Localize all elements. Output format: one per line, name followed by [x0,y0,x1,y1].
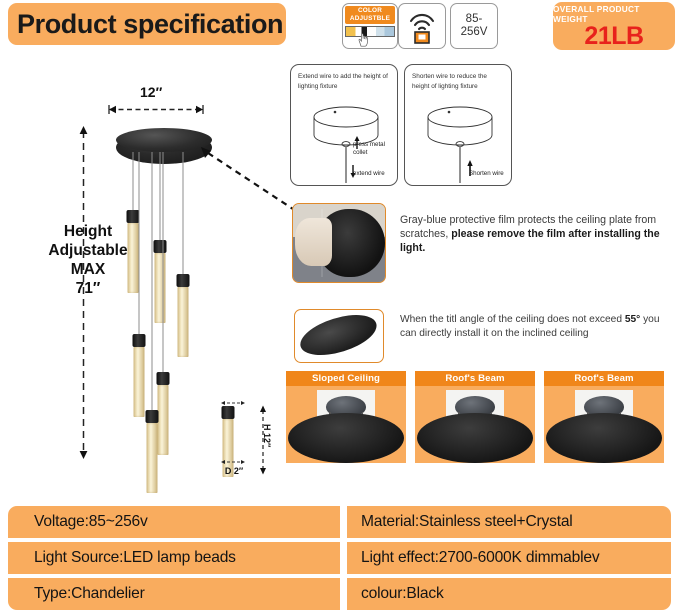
table-row: Light Source:LED lamp beads Light effect… [8,542,671,574]
photo-hand [295,218,332,266]
ceiling-panel-body-1 [286,386,406,463]
spec-type: Type:Chandelier [8,578,340,610]
wifi-remote-icon [399,4,445,48]
instruction-card-extend-wire: Extend wire to add the height of lightin… [290,64,398,186]
width-dimension-label: 12″ [140,84,162,100]
color-adjustable-line2: ADJUSTBLE [350,15,390,22]
spec-light-effect: Light effect:2700-6000K dimmablev [347,542,671,574]
tilt-plate-shape [296,309,382,363]
panel-disc-2 [417,413,532,463]
width-dimension-arrow [108,105,204,114]
ceiling-panel-body-3 [544,386,664,463]
extend-callout-extend-wire: extend wire [353,170,385,178]
instruction-card-shorten-wire: Shorten wire to reduce the height of lig… [404,64,512,186]
detail-diameter-bottom-arrow [220,459,246,465]
extend-wire-text: Extend wire to add the height of lightin… [298,72,392,91]
page-title-banner: Product specification [8,3,286,45]
detail-diameter-top-arrow [220,400,246,406]
height-label-line2: Adjustable [48,242,127,259]
voltage-line2: 256V [461,26,488,38]
spec-colour: colour:Black [347,578,671,610]
specification-table: Voltage:85~256v Material:Stainless steel… [8,506,671,614]
ceiling-panel-title-3: Roof's Beam [544,371,664,386]
detail-height-text: H 12″ [262,424,272,447]
panel-disc-1 [288,413,403,463]
tilt-angle-text: When the titl angle of the ceiling does … [400,313,668,341]
table-row: Voltage:85~256v Material:Stainless steel… [8,506,671,538]
extend-callout-press-collet: press metal collet [353,141,397,156]
table-row: Type:Chandelier colour:Black [8,578,671,610]
tilt-angle-value: 55° [625,314,640,325]
height-label-line3: MAX [71,261,105,278]
detail-height-label: H 12″ [262,424,272,452]
height-label-line1: Height [64,223,112,240]
ceiling-panel-title-1: Sloped Ceiling [286,371,406,386]
spec-material: Material:Stainless steel+Crystal [347,506,671,538]
hand-cursor-icon [355,32,372,47]
badge-voltage: 85- 256V [450,3,498,49]
weight-value: 21LB [584,24,643,49]
detail-diameter-label: D 2″ [216,466,252,476]
tilt-angle-photo [294,309,384,363]
panel-disc-3 [546,413,661,463]
ceiling-panel-roofs-beam-2: Roof's Beam [544,371,664,463]
color-adjustable-line1: COLOR [358,7,382,14]
voltage-badge-text: 85- 256V [461,13,488,39]
tilt-text-part1: When the titl angle of the ceiling does … [400,314,625,325]
ceiling-panel-body-2 [415,386,535,463]
ceiling-panel-sloped-ceiling: Sloped Ceiling [286,371,406,463]
badge-color-adjustable: COLOR ADJUSTBLE [342,3,398,49]
overall-weight-badge: OVERALL PRODUCT WEIGHT 21LB [553,2,675,50]
weight-label: OVERALL PRODUCT WEIGHT [553,4,675,24]
callout-pointer-arrow [196,145,301,215]
color-adjustable-label: COLOR ADJUSTBLE [345,6,395,24]
shorten-callout-shorten-wire: Shorten wire [469,170,504,178]
ceiling-panel-roofs-beam-1: Roof's Beam [415,371,535,463]
protective-film-photo [292,203,386,283]
ceiling-panel-title-2: Roof's Beam [415,371,535,386]
height-adjustable-label: Height Adjustable MAX 71″ [40,222,136,298]
spec-light-source: Light Source:LED lamp beads [8,542,340,574]
voltage-line1: 85- [466,13,483,25]
protective-film-text: Gray-blue protective film protects the c… [400,213,670,256]
height-label-line4: 71″ [76,280,101,297]
badge-remote-control [398,3,446,49]
spec-voltage: Voltage:85~256v [8,506,340,538]
page-title: Product specification [8,9,283,40]
shorten-wire-text: Shorten wire to reduce the height of lig… [412,72,506,91]
